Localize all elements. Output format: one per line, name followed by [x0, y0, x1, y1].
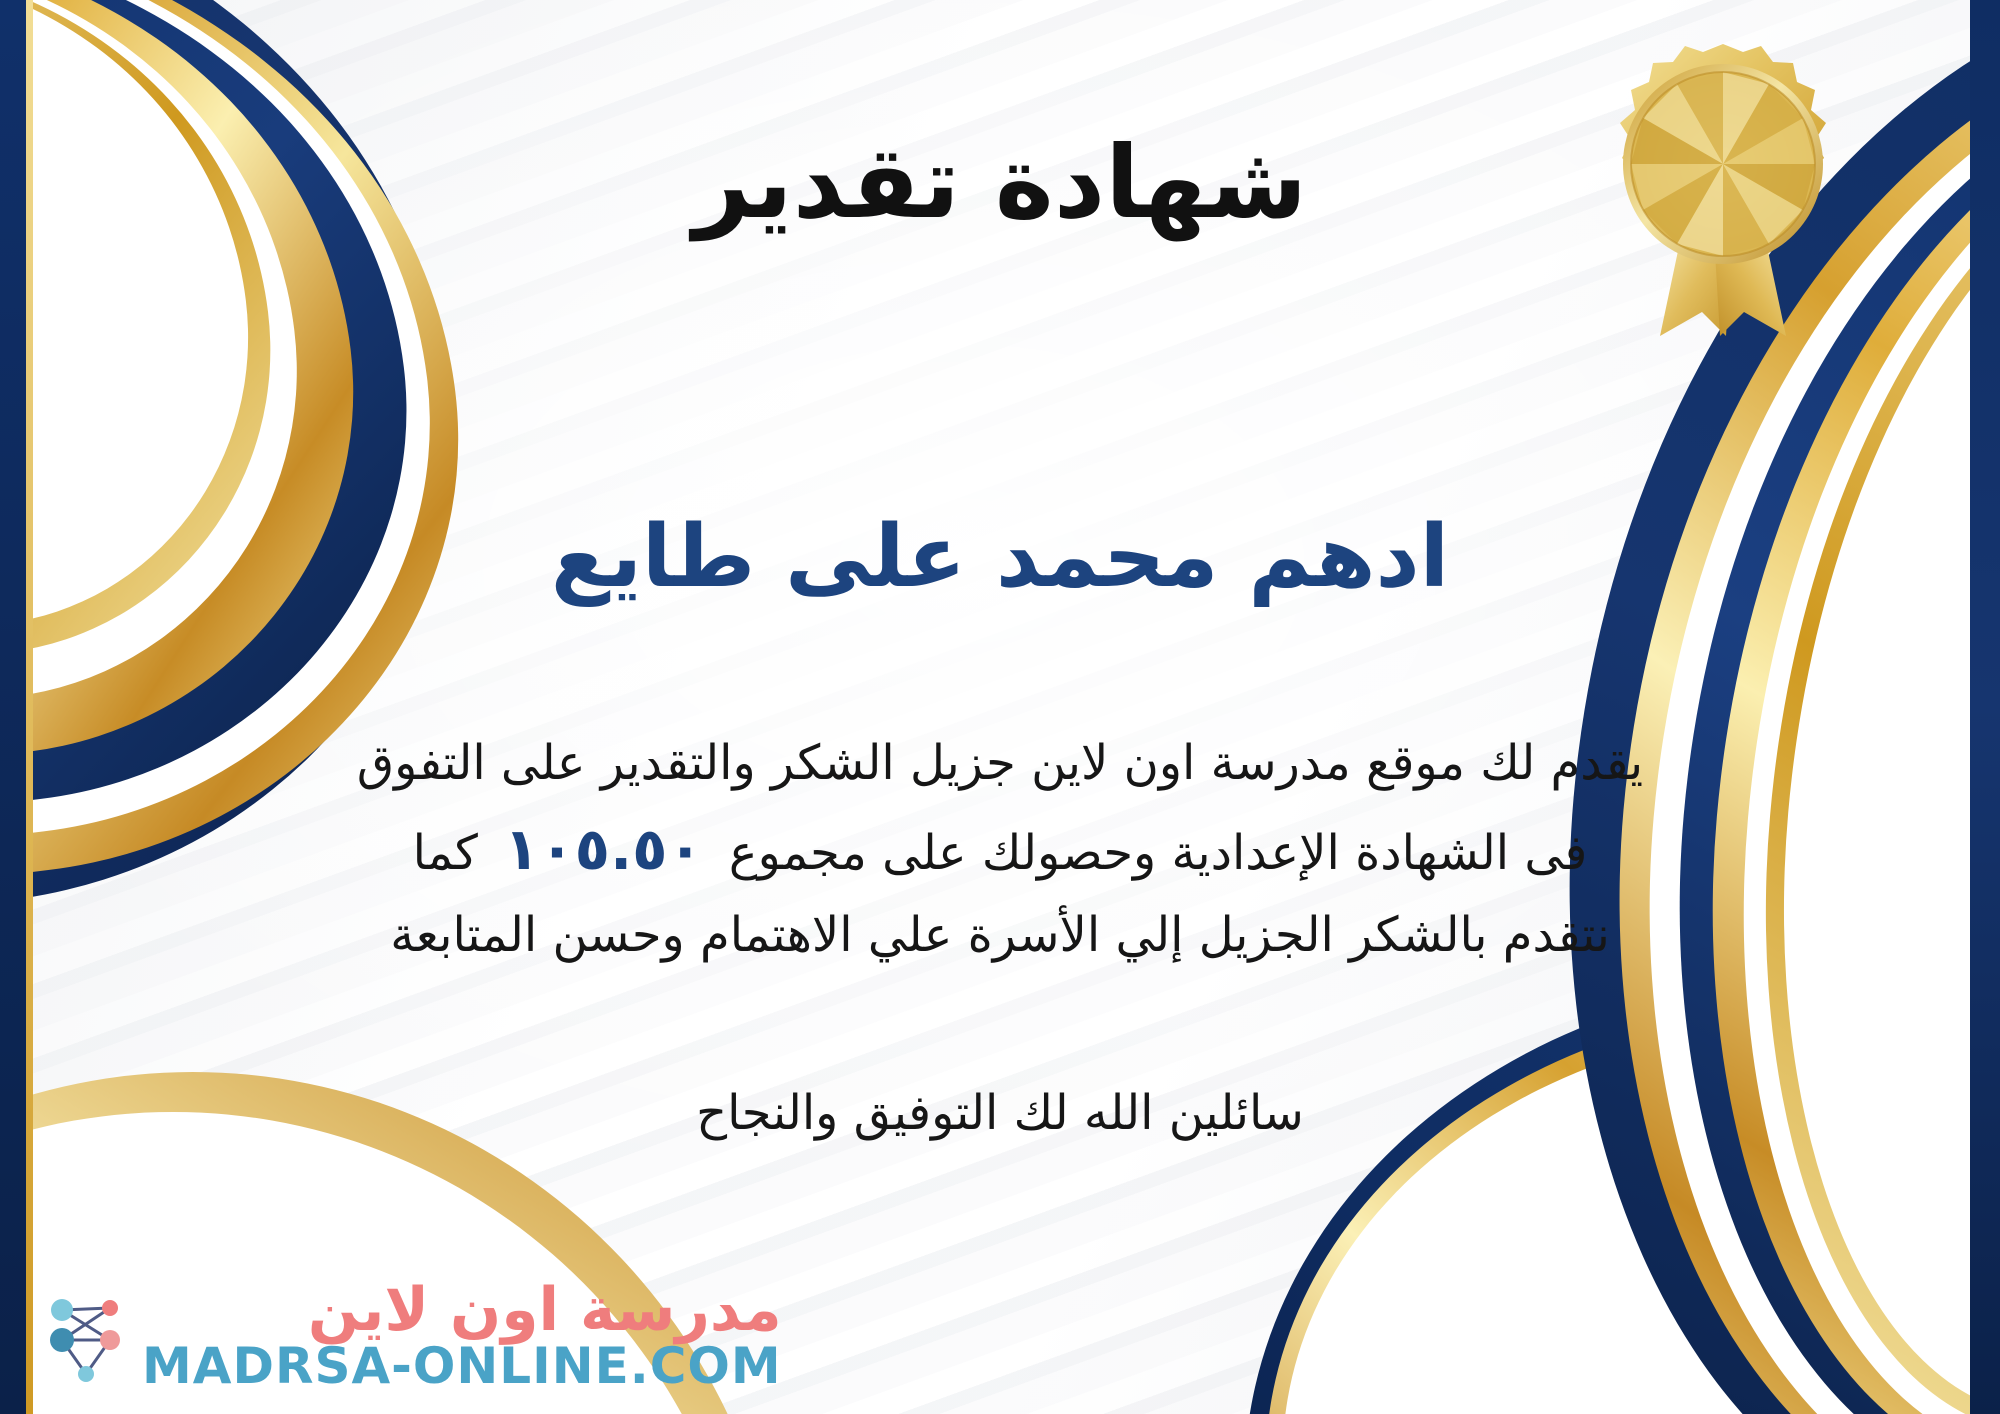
certificate-canvas: شهادة تقدير ادهم محمد على طايع يقدم لك م…: [0, 0, 2000, 1414]
certificate-title: شهادة تقدير: [0, 130, 2000, 235]
body-line-2-suffix: كما: [413, 825, 478, 881]
body-line-2-prefix: فى الشهادة الإعدادية وحصولك على مجموع: [729, 825, 1587, 881]
recipient-name: ادهم محمد على طايع: [0, 510, 2000, 605]
certificate-content: شهادة تقدير ادهم محمد على طايع يقدم لك م…: [0, 0, 2000, 1414]
brand-name-english: MADRSA-ONLINE.COM: [142, 1340, 782, 1393]
body-line-1: يقدم لك موقع مدرسة اون لاين جزيل الشكر و…: [250, 725, 1750, 803]
brand-logo: مدرسة اون لاين MADRSA-ONLINE.COM: [40, 1280, 782, 1393]
brand-text-group: مدرسة اون لاين MADRSA-ONLINE.COM: [142, 1280, 782, 1393]
total-score-value: ١٠٥.٥٠: [478, 815, 729, 883]
body-line-2: فى الشهادة الإعدادية وحصولك على مجموع١٠٥…: [250, 803, 1750, 897]
body-line-3: نتقدم بالشكر الجزيل إلي الأسرة علي الاهت…: [250, 897, 1750, 975]
brand-name-arabic: مدرسة اون لاين: [142, 1280, 782, 1340]
network-nodes-icon: [40, 1288, 132, 1384]
closing-wish-text: سائلين الله لك التوفيق والنجاح: [0, 1085, 2000, 1141]
certificate-body: يقدم لك موقع مدرسة اون لاين جزيل الشكر و…: [250, 725, 1750, 974]
